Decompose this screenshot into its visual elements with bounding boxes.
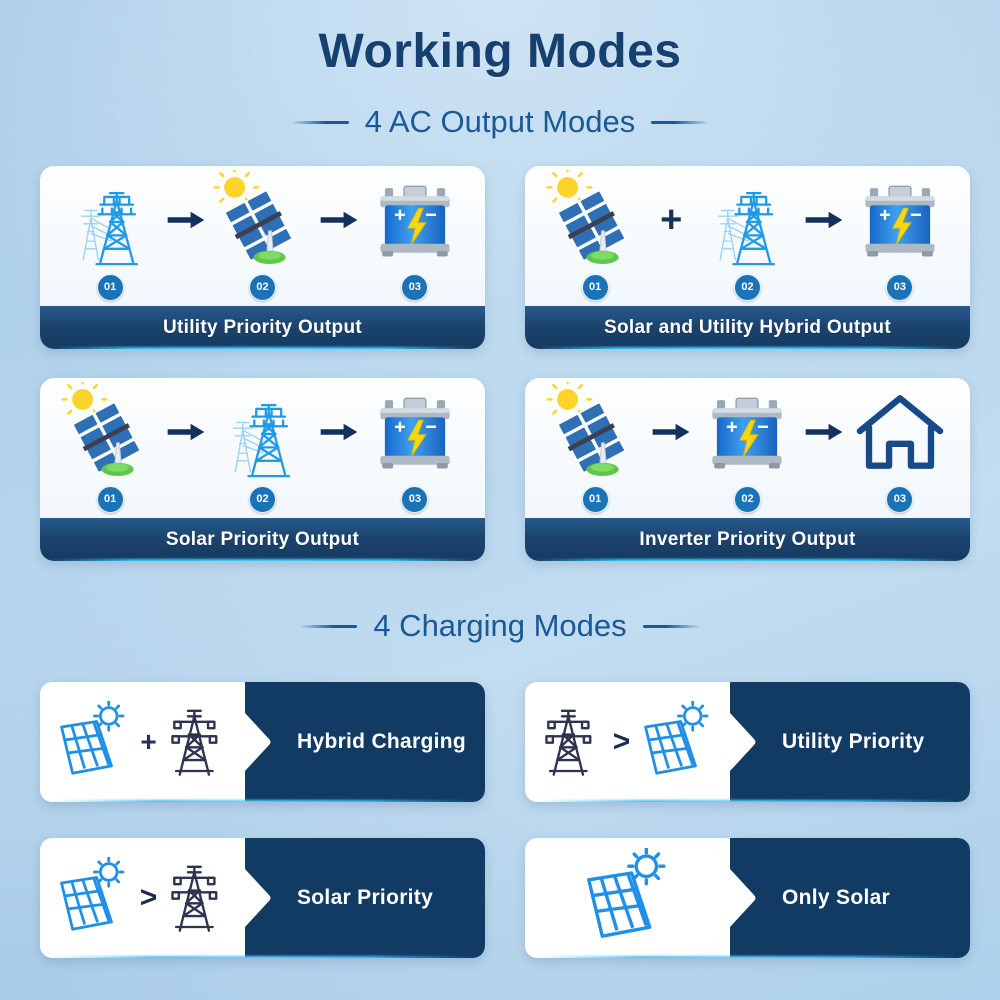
step-badge: 03 [886, 274, 913, 301]
step-badge: 01 [582, 486, 609, 513]
house-icon [846, 384, 954, 480]
tower-line-icon [167, 701, 229, 784]
charging-mode-label: Only Solar [782, 886, 890, 910]
section-heading-charging: 4 Charging Modes [0, 608, 1000, 644]
card-glow [50, 956, 475, 958]
arrow-right-icon [649, 421, 693, 443]
card-glow [535, 800, 960, 802]
battery-icon [361, 172, 469, 268]
charging-label-panel: Solar Priority [245, 838, 485, 958]
ac-mode-label: Inverter Priority Output [525, 518, 970, 561]
charging-mode-card[interactable]: Only Solar [525, 838, 970, 958]
battery-icon [693, 384, 801, 480]
battery-icon [361, 384, 469, 480]
solar-line-icon [56, 857, 130, 940]
chevron-right-icon [245, 869, 273, 927]
ac-step-numbers: 01 02 03 [525, 270, 970, 304]
ac-step-numbers: 01 02 03 [40, 482, 485, 516]
ac-flow-row [525, 384, 970, 480]
solar-panel-sun-icon [56, 384, 164, 480]
ac-mode-card[interactable]: 01 02 03 Utility Priority Output [40, 166, 485, 349]
ac-mode-card[interactable]: + [525, 166, 970, 349]
card-glow [531, 347, 964, 349]
section-heading-label: 4 AC Output Modes [365, 104, 636, 140]
step-badge: 02 [249, 486, 276, 513]
tower-line-icon [541, 701, 603, 784]
arrow-right-icon [802, 421, 846, 443]
ac-mode-card[interactable]: 01 02 03 Inverter Priority Output [525, 378, 970, 561]
charging-mode-label: Solar Priority [297, 886, 433, 910]
battery-icon [846, 172, 954, 268]
ac-step-numbers: 01 02 03 [40, 270, 485, 304]
step-badge: 03 [886, 486, 913, 513]
plus-connector: + [140, 728, 156, 756]
tower-line-icon [167, 857, 229, 940]
arrow-right-icon [164, 421, 208, 443]
step-badge: 02 [249, 274, 276, 301]
step-badge: 03 [401, 274, 428, 301]
section-heading-ac-output: 4 AC Output Modes [0, 104, 1000, 140]
charging-mode-label: Hybrid Charging [297, 730, 466, 754]
page-title: Working Modes [0, 24, 1000, 79]
power-tower-icon [693, 172, 801, 268]
charging-label-panel: Hybrid Charging [245, 682, 485, 802]
plus-icon: + [649, 201, 693, 239]
arrow-right-icon [317, 209, 361, 231]
ac-flow-row [40, 384, 485, 480]
solar-panel-sun-icon [208, 172, 316, 268]
charging-mode-card[interactable]: + Hybrid Charging [40, 682, 485, 802]
ac-step-numbers: 01 02 03 [525, 482, 970, 516]
greater-than-connector: > [613, 727, 631, 757]
charging-icons [525, 838, 730, 958]
solar-panel-sun-icon [541, 384, 649, 480]
charging-icons: > [40, 838, 245, 958]
solar-line-icon [640, 701, 714, 784]
step-badge: 02 [734, 486, 761, 513]
ac-mode-label: Solar and Utility Hybrid Output [525, 306, 970, 349]
ac-mode-label: Utility Priority Output [40, 306, 485, 349]
arrow-right-icon [317, 421, 361, 443]
solar-line-icon [56, 701, 130, 784]
arrow-right-icon [802, 209, 846, 231]
charging-label-panel: Utility Priority [730, 682, 970, 802]
step-badge: 01 [582, 274, 609, 301]
step-badge: 01 [97, 486, 124, 513]
step-badge: 01 [97, 274, 124, 301]
heading-dash-right [651, 121, 709, 124]
heading-dash-left [299, 625, 357, 628]
charging-mode-card[interactable]: > Solar Priority [40, 838, 485, 958]
card-glow [531, 559, 964, 561]
power-tower-icon [208, 384, 316, 480]
card-glow [50, 800, 475, 802]
ac-card-body: 01 02 03 [40, 166, 485, 306]
section-heading-label: 4 Charging Modes [373, 608, 626, 644]
chevron-right-icon [730, 869, 758, 927]
card-glow [46, 347, 479, 349]
chevron-right-icon [730, 713, 758, 771]
charging-mode-card[interactable]: > Utility Priority [525, 682, 970, 802]
ac-card-body: + [525, 166, 970, 306]
working-modes-infographic: Working Modes 4 AC Output Modes [0, 0, 1000, 1000]
chevron-right-icon [245, 713, 273, 771]
greater-than-connector: > [140, 883, 158, 913]
charging-icons: + [40, 682, 245, 802]
charging-icons: > [525, 682, 730, 802]
card-glow [46, 559, 479, 561]
ac-mode-label: Solar Priority Output [40, 518, 485, 561]
charging-mode-label: Utility Priority [782, 730, 925, 754]
ac-flow-row [40, 172, 485, 268]
ac-flow-row: + [525, 172, 970, 268]
power-tower-icon [56, 172, 164, 268]
step-badge: 02 [734, 274, 761, 301]
arrow-right-icon [164, 209, 208, 231]
heading-dash-right [643, 625, 701, 628]
ac-card-body: 01 02 03 [525, 378, 970, 518]
solar-panel-sun-icon [541, 172, 649, 268]
ac-mode-card[interactable]: 01 02 03 Solar Priority Output [40, 378, 485, 561]
heading-dash-left [291, 121, 349, 124]
solar-line-icon [582, 848, 672, 948]
card-glow [535, 956, 960, 958]
charging-label-panel: Only Solar [730, 838, 970, 958]
ac-card-body: 01 02 03 [40, 378, 485, 518]
step-badge: 03 [401, 486, 428, 513]
